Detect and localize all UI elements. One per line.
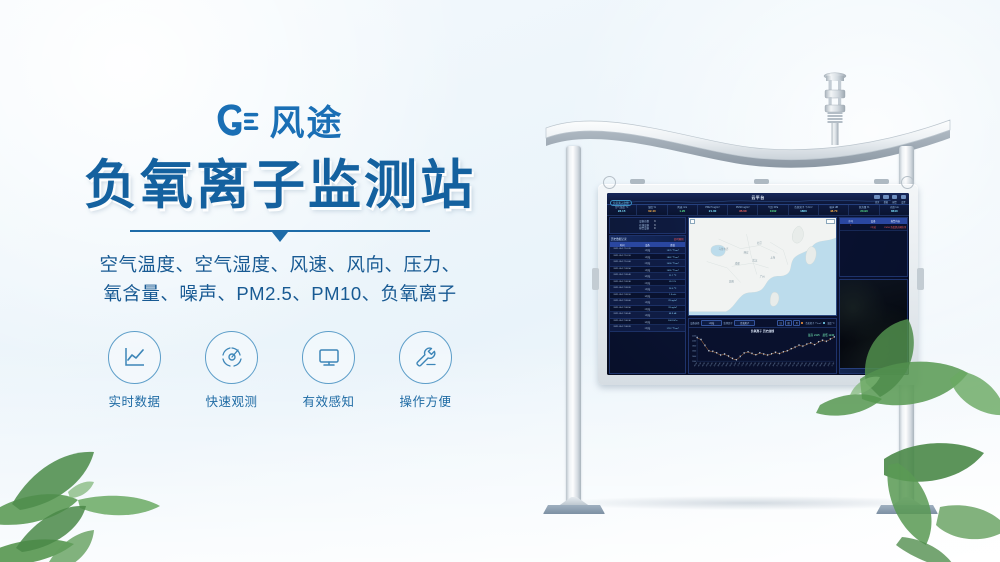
dashboard-title: 云平台 (751, 195, 764, 201)
table-cell: 1655 个/cm³ (660, 267, 685, 273)
stat-label: 报警设备 (639, 227, 649, 231)
wave-canopy (544, 112, 954, 174)
stat-row: 报警设备0 (612, 227, 684, 231)
side-bracket-right (917, 268, 924, 290)
side-bracket-left (592, 268, 599, 290)
svg-text:上海: 上海 (770, 256, 775, 260)
x-tick-label: 07:00 (815, 362, 819, 367)
metric-value: 1002 (758, 210, 787, 213)
history-line-chart: 12001400160018002000220000:0001:0002:000… (689, 333, 837, 373)
table-cell: 2021-05-17 09:00 (610, 299, 635, 305)
x-tick-label: 07:00 (721, 362, 725, 367)
hanger-ring-right (901, 176, 914, 189)
feature-icon-ring (399, 331, 452, 384)
x-tick-label: 04:00 (709, 362, 713, 367)
base-plate-right (876, 497, 938, 514)
table-cell: 1号站 (635, 247, 660, 253)
chart-point-marker (716, 352, 717, 354)
alarm-cell: 1 (840, 224, 862, 230)
x-tick-label: 05:00 (807, 362, 811, 367)
data-icon (883, 195, 889, 199)
page-title: 负氧离子监测站 (0, 158, 560, 214)
table-cell: 24.0 ℃ (660, 286, 685, 292)
display-cabinet: 负氧离子监测 云平台 首页 数据 (598, 184, 918, 385)
subtitle-line-1: 空气温度、空气湿度、风速、风向、压力、 (0, 251, 560, 280)
metric-card: 湿度 %62.40 (637, 205, 667, 215)
x-tick-label: 00:00 (788, 362, 792, 367)
metric-value: 62.40 (637, 210, 666, 213)
x-tick-label: 17:00 (760, 362, 764, 367)
metric-card: PM2.5 ug/m³21.00 (698, 205, 728, 215)
x-tick-label: 20:00 (772, 362, 776, 367)
y-tick-label: 1600 (692, 350, 696, 352)
feature-item-realtime-data[interactable]: 实时数据 (102, 331, 168, 410)
mount-clip (754, 179, 769, 184)
y-tick-label: 2000 (692, 340, 696, 342)
poster-stage: 风途 负氧离子监测站 空气温度、空气湿度、风速、风向、压力、 氧含量、噪声、PM… (0, 0, 1000, 562)
table-cell: 2号站 (635, 260, 660, 266)
table-cell: 2021-05-17 09:20 (610, 286, 635, 292)
table-cell: 3号站 (635, 293, 660, 299)
svg-text:武汉: 武汉 (752, 259, 757, 263)
table-cell: 2021-05-17 09:10 (610, 293, 635, 299)
home-icon (874, 195, 880, 199)
metric-value: 21.00 (698, 210, 727, 213)
x-tick-label: 15:00 (753, 362, 757, 367)
table-cell: 2021-05-17 08:50 (610, 306, 635, 312)
toolbar-label: 首页 (874, 200, 880, 204)
table-cell: 1430 个/cm³ (660, 260, 685, 266)
mount-clip (630, 179, 645, 184)
table-cell: 2021-05-17 08:40 (610, 312, 635, 318)
feature-icon-ring (108, 331, 161, 384)
x-tick-label: 01:00 (698, 362, 702, 367)
x-tick-label: 11:00 (737, 362, 741, 367)
table-cell: 3号站 (635, 319, 660, 325)
user-icon (901, 195, 907, 199)
legend-swatch-1 (801, 322, 803, 324)
x-tick-label: 05:00 (713, 362, 717, 367)
history-chart-panel: 设备选择 1号站 监测因子 负氧离子 日 周 月 (688, 318, 838, 374)
chart-point-marker (794, 346, 795, 348)
monitoring-dashboard: 负氧离子监测 云平台 首页 数据 (607, 193, 909, 375)
alarm-cell: PM10 浓度超过阈值 预警 (884, 224, 906, 230)
x-tick-label: 02:00 (702, 362, 706, 367)
brand-name: 风途 (269, 106, 343, 141)
metric-value: 1.20 (668, 210, 697, 213)
svg-text:乌鲁木齐: 乌鲁木齐 (718, 248, 728, 252)
table-cell: 2021-05-17 08:30 (610, 319, 635, 325)
x-tick-label: 08:00 (819, 362, 823, 367)
table-cell: 1975 个/cm³ (660, 247, 685, 253)
alarm-icon (892, 195, 898, 199)
monitoring-station-product: 负氧离子监测 云平台 首页 数据 (520, 60, 980, 520)
legend-label-1: 负氧离子 个/cm³ (805, 321, 821, 325)
chart-plot-area: 12001400160018002000220000:0001:0002:000… (689, 333, 837, 373)
history-caption-text: 历史数据记录 (611, 237, 627, 241)
table-cell: 1号站 (635, 267, 660, 273)
device-stats: 设备总数3在线设备3报警设备0 (609, 217, 687, 233)
x-tick-label: 09:00 (729, 362, 733, 367)
table-cell: 1号站 (635, 299, 660, 305)
table-cell: 3号站 (635, 273, 660, 279)
toolbar-label: 设置 (901, 200, 907, 204)
feature-label: 实时数据 (102, 391, 168, 410)
x-tick-label: 02:00 (796, 362, 800, 367)
divider-triangle-icon (272, 232, 288, 242)
table-cell: 61.3 % (660, 280, 685, 286)
metric-card: 气压 hPa1002 (758, 205, 788, 215)
table-cell: 1862 个/cm³ (660, 254, 685, 260)
y-tick-label: 2200 (692, 335, 696, 337)
table-cell: 2021-05-17 09:30 (610, 280, 635, 286)
dashboard-center-column: 北京上海 广州成都 西安武汉 乌鲁木齐昆明 (688, 217, 838, 373)
table-cell: 1号站 (635, 254, 660, 260)
chart-series-line (697, 337, 834, 360)
chart-range-month-button[interactable]: 月 (793, 320, 800, 327)
x-tick-label: 19:00 (768, 362, 772, 367)
metric-card: 负氧离子 个/cm³1860 (789, 205, 819, 215)
radar-sensor-icon (219, 344, 245, 370)
x-tick-label: 06:00 (717, 362, 721, 367)
x-tick-label: 12:00 (741, 362, 745, 367)
chart-factor-label: 监测因子 (723, 321, 732, 325)
lcd-screen: 负氧离子监测 云平台 首页 数据 (607, 193, 909, 375)
svg-text:北京: 北京 (757, 241, 762, 245)
alarm-cell: 2号站 (862, 224, 884, 230)
dashboard-body: 设备总数3在线设备3报警设备0 历史数据记录 实时刷新 时间设备数值 2021-… (607, 216, 909, 375)
base-plate (876, 505, 938, 514)
table-cell: 48.9 dB (660, 312, 685, 318)
map-graphic: 北京上海 广州成都 西安武汉 乌鲁木齐昆明 (689, 218, 837, 315)
table-cell: 1.5 m/s (660, 293, 685, 299)
chart-factor-select[interactable]: 负氧离子 (734, 320, 755, 327)
chart-point-marker (814, 344, 815, 346)
metric-card: 光照 lux8640 (880, 205, 909, 215)
chart-readout-max: 最高 2115 (808, 333, 820, 337)
chart-point-marker (696, 337, 697, 339)
mount-clip (874, 179, 889, 184)
chart-readout-min: 最低 1240 (823, 333, 835, 337)
alarm-table-body[interactable]: 12号站PM10 浓度超过阈值 预警 (840, 224, 907, 231)
camera-image (840, 280, 907, 373)
chart-range-day-button[interactable]: 日 (777, 320, 784, 327)
table-cell: 1001 hPa (660, 319, 685, 325)
x-tick-label: 16:00 (756, 362, 760, 367)
chart-range-week-button[interactable]: 周 (785, 320, 792, 327)
monitor-icon (316, 344, 342, 370)
map-layer-control[interactable] (826, 219, 835, 224)
y-tick-label: 1400 (692, 356, 696, 358)
base-plate-left (543, 497, 605, 514)
metric-card: 空气温度 ℃23.15 (607, 205, 637, 215)
y-tick-label: 1200 (692, 361, 696, 363)
chart-point-marker (727, 355, 728, 357)
svg-text:成都: 成都 (734, 262, 739, 266)
stat-value: 0 (654, 227, 655, 231)
legend-swatch-2 (823, 322, 825, 324)
feature-icon-ring (302, 331, 355, 384)
legend-label-2: 温度 ℃ (827, 321, 834, 325)
table-cell: 2021-05-17 10:00 (610, 260, 635, 266)
history-table-body[interactable]: 2021-05-17 10:201号站1975 个/cm³2021-05-17 … (610, 247, 686, 372)
toolbar-item[interactable]: 数据 (883, 195, 889, 204)
x-tick-label: 08:00 (725, 362, 729, 367)
feature-label: 操作方便 (393, 391, 459, 410)
x-tick-label: 03:00 (706, 362, 710, 367)
metric-card: 风速 m/s1.20 (668, 205, 698, 215)
metric-value: 8640 (880, 210, 909, 213)
chart-toolbar[interactable]: 设备选择 1号站 监测因子 负氧离子 日 周 月 (689, 319, 837, 329)
feature-item-easy-operation[interactable]: 操作方便 (393, 331, 459, 410)
metric-value: 1860 (789, 210, 818, 213)
subtitle-line-2: 氧含量、噪声、PM2.5、PM10、负氧离子 (0, 280, 560, 309)
alarm-panel[interactable]: 序号设备报警内容 12号站PM10 浓度超过阈值 预警 (839, 217, 908, 277)
feature-icon-ring (205, 331, 258, 384)
table-cell: 1712 个/cm³ (660, 325, 685, 331)
support-post-left (566, 146, 581, 506)
x-tick-label: 14:00 (749, 362, 753, 367)
hanger-ring-left (603, 176, 616, 189)
metric-card: 噪声 dB48.70 (819, 205, 849, 215)
svg-text:广州: 广州 (760, 275, 765, 279)
x-tick-label: 04:00 (804, 362, 808, 367)
feature-label: 快速观测 (199, 391, 265, 410)
metric-value: 35.00 (728, 210, 757, 213)
svg-text:昆明: 昆明 (729, 280, 734, 284)
x-tick-label: 21:00 (776, 362, 780, 367)
dashboard-toolbar[interactable]: 首页 数据 报警 设置 (874, 195, 906, 204)
wrench-icon (413, 344, 439, 370)
x-tick-label: 23:00 (784, 362, 788, 367)
dashboard-corner-tag: 负氧离子监测 (610, 200, 632, 207)
x-tick-label: 11:00 (831, 362, 835, 367)
dashboard-header: 负氧离子监测 云平台 首页 数据 (607, 193, 909, 205)
toolbar-item[interactable]: 设置 (901, 195, 907, 204)
subtitle: 空气温度、空气湿度、风速、风向、压力、 氧含量、噪声、PM2.5、PM10、负氧… (0, 251, 560, 308)
metric-value: 48.70 (819, 210, 848, 213)
china-map[interactable]: 北京上海 广州成都 西安武汉 乌鲁木齐昆明 (688, 217, 838, 316)
title-divider (130, 230, 430, 242)
metric-strip: 空气温度 ℃23.15湿度 %62.40风速 m/s1.20PM2.5 ug/m… (607, 205, 909, 216)
metric-value: 23.15 (607, 210, 636, 213)
dashboard-left-column: 设备总数3在线设备3报警设备0 历史数据记录 实时刷新 时间设备数值 2021-… (609, 217, 687, 373)
camera-feed[interactable] (839, 279, 908, 374)
metric-value: 20.90 (849, 210, 878, 213)
table-cell: 1号站 (635, 312, 660, 318)
x-tick-label: 18:00 (764, 362, 768, 367)
history-table[interactable]: 历史数据记录 实时刷新 时间设备数值 2021-05-17 10:201号站19… (609, 235, 687, 373)
base-plate (543, 505, 605, 514)
metric-card: PM10 ug/m³35.00 (728, 205, 758, 215)
table-cell: 1号站 (635, 286, 660, 292)
table-cell: 2021-05-17 10:20 (610, 247, 635, 253)
brand-logo: 风途 (0, 100, 560, 146)
toolbar-item[interactable]: 报警 (892, 195, 898, 204)
chart-axes (697, 336, 834, 362)
toolbar-label: 数据 (883, 200, 889, 204)
table-cell: 2021-05-17 09:50 (610, 267, 635, 273)
camera-status-bar (840, 368, 907, 373)
x-tick-label: 10:00 (733, 362, 737, 367)
feature-item-effective-sensing[interactable]: 有效感知 (296, 331, 362, 410)
alarm-row[interactable]: 12号站PM10 浓度超过阈值 预警 (840, 224, 907, 231)
x-tick-label: 03:00 (800, 362, 804, 367)
x-tick-label: 22:00 (780, 362, 784, 367)
table-cell: 29 ug/m³ (660, 299, 685, 305)
x-tick-label: 09:00 (823, 362, 827, 367)
history-caption-status: 实时刷新 (674, 237, 684, 241)
x-tick-label: 13:00 (745, 362, 749, 367)
x-tick-label: 06:00 (811, 362, 815, 367)
toolbar-label: 报警 (892, 200, 898, 204)
table-cell: 2号站 (635, 306, 660, 312)
x-tick-label: 10:00 (827, 362, 831, 367)
table-cell: 2号站 (635, 325, 660, 331)
dashboard-right-column: 序号设备报警内容 12号站PM10 浓度超过阈值 预警 (839, 217, 908, 373)
map-zoom-control[interactable] (690, 219, 695, 224)
table-cell: 2021-05-17 08:20 (610, 325, 635, 331)
table-cell: 21.7 ℃ (660, 273, 685, 279)
table-cell: 2021-05-17 09:40 (610, 273, 635, 279)
metric-card: 氧含量 %20.90 (849, 205, 879, 215)
feature-list: 实时数据 快速观测 (0, 331, 560, 410)
feature-item-fast-observation[interactable]: 快速观测 (199, 331, 265, 410)
table-row[interactable]: 2021-05-17 08:202号站1712 个/cm³ (610, 325, 686, 332)
feature-label: 有效感知 (296, 391, 362, 410)
chart-device-select[interactable]: 1号站 (701, 320, 722, 327)
line-chart-icon (122, 344, 148, 370)
chart-readout: 最高 2115 最低 1240 (808, 333, 834, 337)
svg-text:西安: 西安 (743, 251, 748, 255)
table-cell: 2号站 (635, 280, 660, 286)
chart-point-marker (829, 338, 830, 340)
marketing-panel: 风途 负氧离子监测站 空气温度、空气湿度、风速、风向、压力、 氧含量、噪声、PM… (0, 100, 560, 410)
chart-filter-label: 设备选择 (690, 321, 699, 325)
table-cell: 33 ug/m³ (660, 306, 685, 312)
chart-legend: 负氧离子 个/cm³ 温度 ℃ (801, 321, 834, 325)
y-tick-label: 1800 (692, 345, 696, 347)
table-cell: 2021-05-17 10:10 (610, 254, 635, 260)
toolbar-item[interactable]: 首页 (874, 195, 880, 204)
x-tick-label: 01:00 (792, 362, 796, 367)
fengtu-wind-g-logo-icon (216, 103, 260, 143)
